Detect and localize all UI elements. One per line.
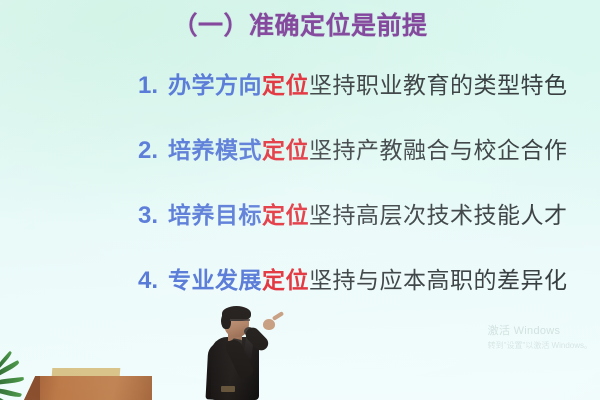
list-item-body: 坚持职业教育的类型特色: [309, 73, 568, 98]
list-item-text: 办学方向定位坚持职业教育的类型特色: [168, 74, 568, 97]
potted-plant: [0, 356, 34, 400]
list-item-number: 2.: [138, 137, 168, 165]
presentation-photo: （一）准确定位是前提 1. 办学方向定位坚持职业教育的类型特色 2. 培养模式定…: [0, 0, 600, 400]
list-item-number: 1.: [138, 72, 168, 100]
list-item-highlight: 定位: [262, 202, 309, 228]
windows-activation-watermark: 激活 Windows 转到"设置"以激活 Windows。: [488, 322, 592, 351]
list-item-body: 坚持高层次技术技能人才: [309, 203, 568, 228]
list-item: 3. 培养目标定位坚持高层次技术技能人才: [138, 202, 568, 267]
list-item-text: 专业发展定位坚持与应本高职的差异化: [168, 269, 568, 292]
list-item-highlight: 定位: [262, 267, 309, 293]
lectern-body: [24, 376, 152, 400]
presenter-hand: [263, 319, 275, 330]
watermark-subtitle: 转到"设置"以激活 Windows。: [488, 340, 592, 351]
list-item-number: 3.: [138, 202, 168, 230]
list-item-keyword: 培养目标: [168, 202, 262, 228]
list-item-number: 4.: [138, 267, 168, 295]
list-item: 2. 培养模式定位坚持产教融合与校企合作: [138, 137, 568, 202]
lectern-top-panel: [52, 368, 121, 377]
list-item-text: 培养目标定位坚持高层次技术技能人才: [168, 204, 568, 227]
lectern: [24, 368, 152, 400]
glasses-icon: [230, 319, 250, 327]
watermark-title: 激活 Windows: [488, 322, 592, 338]
presenter-silhouette: [203, 306, 293, 400]
list-item-highlight: 定位: [262, 72, 309, 98]
list-item-keyword: 专业发展: [168, 267, 262, 293]
list-item-body: 坚持与应本高职的差异化: [309, 268, 568, 293]
plant-leaf: [0, 377, 24, 385]
list-item-keyword: 培养模式: [168, 137, 262, 163]
list-item: 1. 办学方向定位坚持职业教育的类型特色: [138, 72, 568, 137]
list-item-body: 坚持产教融合与校企合作: [309, 138, 568, 163]
list-item-highlight: 定位: [262, 137, 309, 163]
bullet-list: 1. 办学方向定位坚持职业教育的类型特色 2. 培养模式定位坚持产教融合与校企合…: [138, 72, 568, 332]
list-item-text: 培养模式定位坚持产教融合与校企合作: [168, 139, 568, 162]
presenter-pocket: [221, 386, 235, 392]
list-item-keyword: 办学方向: [168, 72, 262, 98]
presenter-pointing-finger: [272, 311, 284, 321]
slide-title: （一）准确定位是前提: [0, 6, 600, 42]
plant-leaf: [0, 387, 22, 398]
